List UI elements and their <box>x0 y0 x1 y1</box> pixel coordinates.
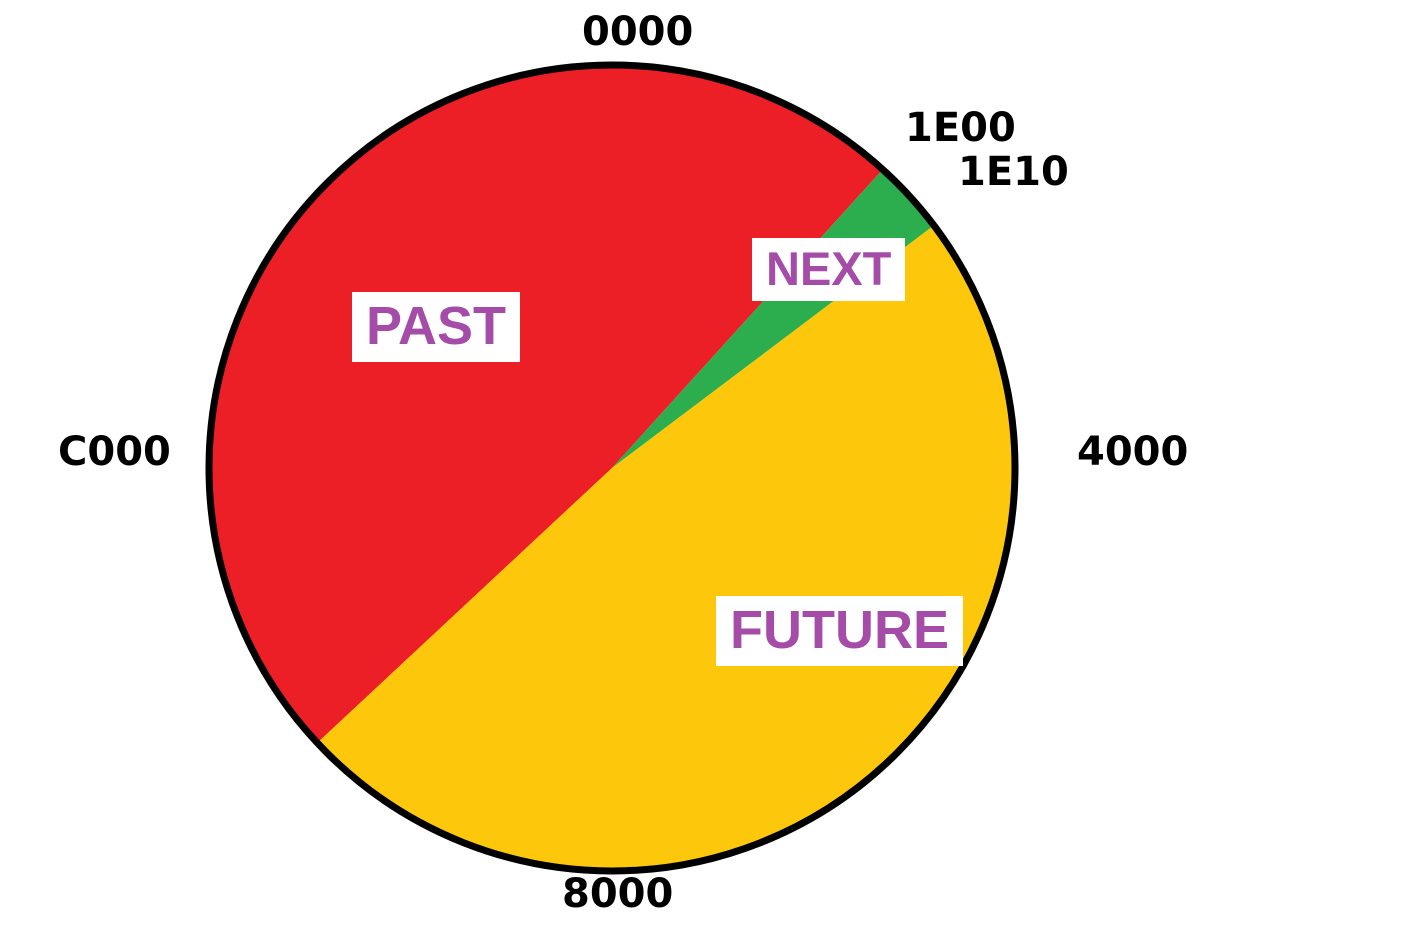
pie-slices <box>209 65 1015 871</box>
tick-1E10: 1E10 <box>958 152 1069 192</box>
tick-4000: 4000 <box>1077 432 1188 472</box>
tick-C000: C000 <box>58 432 171 472</box>
slice-label-next: NEXT <box>752 238 905 301</box>
tick-0000: 0000 <box>582 12 693 52</box>
slice-label-future: FUTURE <box>716 596 963 666</box>
pie-wheel-figure: 00001E001E1040008000C000PASTNEXTFUTURE <box>0 0 1404 949</box>
slice-label-past: PAST <box>352 292 520 362</box>
tick-8000: 8000 <box>562 874 673 914</box>
pie-chart <box>0 0 1404 949</box>
tick-1E00: 1E00 <box>905 108 1016 148</box>
